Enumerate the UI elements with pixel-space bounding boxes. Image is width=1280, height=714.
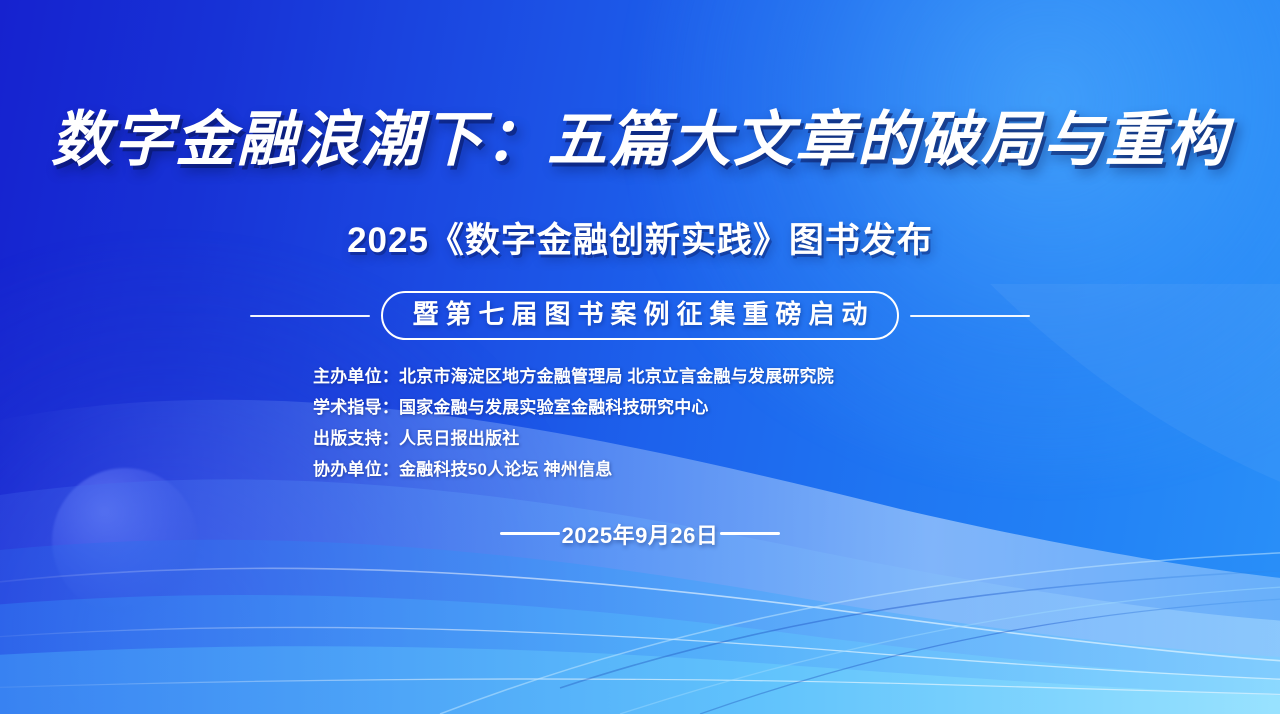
event-banner: 数字金融浪潮下：五篇大文章的破局与重构 2025《数字金融创新实践》图书发布 暨…: [0, 0, 1280, 714]
date-left-dash: [500, 532, 560, 535]
page-title: 数字金融浪潮下：五篇大文章的破局与重构: [0, 108, 1280, 173]
left-rule: [250, 315, 370, 317]
right-rule: [910, 315, 1030, 317]
list-item: 学术指导：国家金融与发展实验室金融科技研究中心: [313, 392, 834, 423]
event-date-row: 2025年9月26日: [0, 518, 1280, 550]
list-item: 出版支持：人民日报出版社: [313, 423, 834, 454]
banner-subtitle: 2025《数字金融创新实践》图书发布: [0, 212, 1280, 263]
highlight-pill: 暨第七届图书案例征集重磅启动: [381, 291, 898, 340]
date-right-dash: [720, 532, 780, 535]
list-item: 协办单位：金融科技50人论坛 神州信息: [313, 454, 834, 485]
highlight-row: 暨第七届图书案例征集重磅启动: [0, 291, 1280, 340]
organization-list: 主办单位：北京市海淀区地方金融管理局 北京立言金融与发展研究院 学术指导：国家金…: [313, 361, 834, 485]
banner-content: 数字金融浪潮下：五篇大文章的破局与重构 2025《数字金融创新实践》图书发布 暨…: [0, 0, 1280, 714]
list-item: 主办单位：北京市海淀区地方金融管理局 北京立言金融与发展研究院: [313, 361, 834, 392]
event-date: 2025年9月26日: [560, 518, 721, 550]
